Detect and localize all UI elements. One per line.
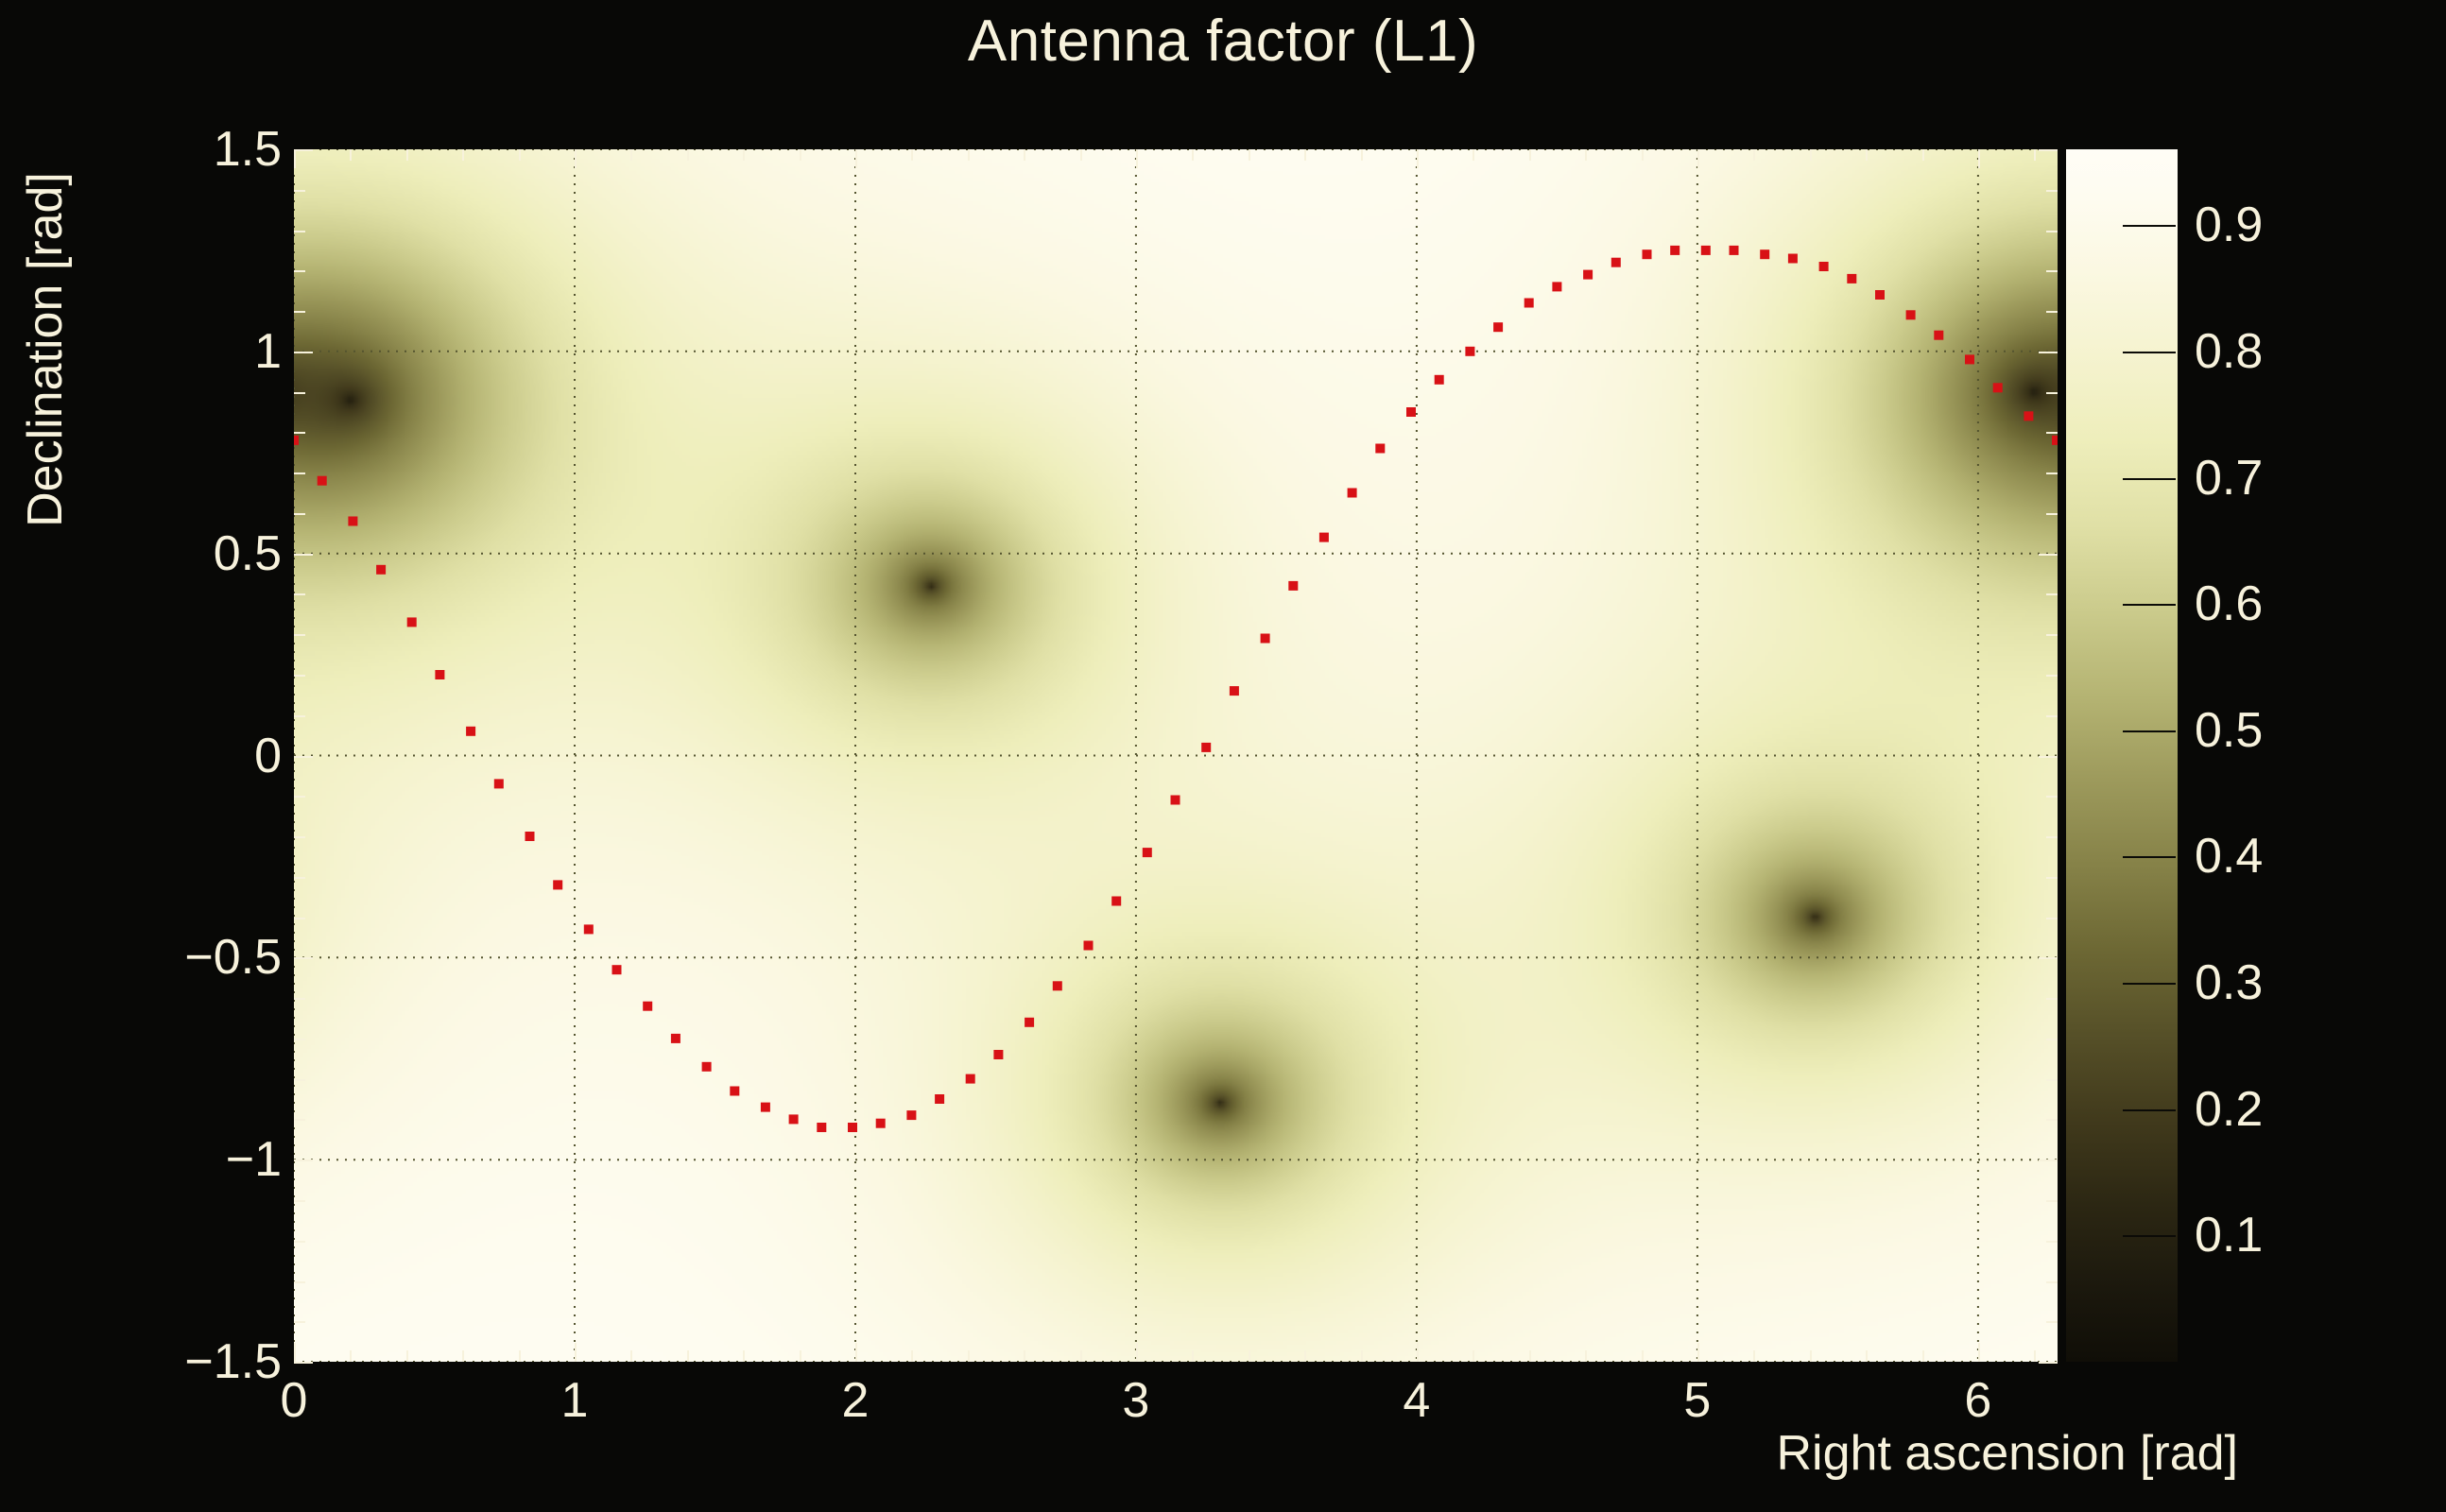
x-tick (1866, 1350, 1868, 1362)
y-tick (2046, 998, 2058, 1000)
y-tick (294, 149, 313, 151)
y-tick-label: −0.5 (184, 929, 282, 986)
y-tick (294, 593, 305, 595)
x-tick (519, 149, 521, 161)
x-tick (743, 1350, 745, 1362)
x-tick (1810, 149, 1812, 161)
y-tick (2046, 190, 2058, 192)
x-tick (575, 1343, 577, 1362)
x-tick (911, 149, 913, 161)
y-tick (2046, 634, 2058, 636)
y-tick (2046, 918, 2058, 919)
y-tick (294, 1119, 305, 1121)
x-tick (294, 1343, 296, 1362)
colorbar-tick (2123, 352, 2176, 353)
colorbar-tick (2123, 1235, 2176, 1237)
x-tick (1697, 149, 1699, 168)
x-tick-label: 3 (1122, 1372, 1149, 1429)
x-tick (1473, 1350, 1474, 1362)
y-axis-title: Declination [rad] (17, 66, 74, 633)
x-tick (350, 1350, 352, 1362)
colorbar-tick-label: 0.4 (2195, 828, 2263, 885)
x-tick (1304, 1350, 1306, 1362)
y-tick (294, 392, 305, 394)
x-tick-label: 5 (1683, 1372, 1711, 1429)
colorbar-tick (2123, 1109, 2176, 1111)
x-tick (1136, 149, 1138, 168)
colorbar-tick-label: 0.6 (2195, 576, 2263, 632)
y-tick (2046, 1079, 2058, 1081)
x-tick (1249, 1350, 1250, 1362)
x-tick (855, 149, 857, 168)
y-tick (294, 1362, 313, 1364)
galactic-plane-overlay (294, 149, 2058, 1362)
y-tick (2046, 472, 2058, 474)
x-tick (1978, 149, 1980, 168)
x-tick (1192, 149, 1194, 161)
y-tick (2039, 554, 2058, 556)
y-tick (2046, 1241, 2058, 1243)
y-tick (2039, 957, 2058, 959)
x-tick (2034, 1350, 2036, 1362)
x-tick (350, 149, 352, 161)
x-tick (1024, 149, 1025, 161)
y-tick (2046, 1119, 2058, 1121)
colorbar-tick-label: 0.7 (2195, 450, 2263, 507)
y-tick (294, 918, 305, 919)
colorbar-tick-label: 0.5 (2195, 702, 2263, 759)
y-tick (294, 1160, 313, 1161)
x-tick (968, 149, 970, 161)
y-tick (294, 311, 305, 313)
x-tick (1753, 1350, 1755, 1362)
colorbar-title: F 2 + + F 2 × (2268, 94, 2382, 501)
x-tick (1642, 1350, 1644, 1362)
y-tick (2046, 311, 2058, 313)
y-tick (2046, 1039, 2058, 1040)
x-tick (1417, 149, 1419, 168)
page-title: Antenna factor (L1) (0, 8, 2446, 75)
y-tick (294, 1241, 305, 1243)
y-tick (294, 957, 313, 959)
colorbar-tick-label: 0.3 (2195, 954, 2263, 1011)
y-tick (2046, 715, 2058, 717)
y-tick (294, 352, 313, 353)
x-tick (1417, 1343, 1419, 1362)
x-tick (911, 1350, 913, 1362)
x-tick (1304, 149, 1306, 161)
colorbar-tick (2123, 730, 2176, 732)
x-tick (406, 149, 408, 161)
y-tick (294, 1200, 305, 1202)
y-tick (294, 1321, 305, 1323)
x-tick (1249, 149, 1250, 161)
x-tick (575, 149, 577, 168)
x-tick (1978, 1343, 1980, 1362)
y-tick (2046, 392, 2058, 394)
y-tick (294, 715, 305, 717)
y-tick (294, 796, 305, 798)
y-tick (294, 1079, 305, 1081)
y-tick-label: 0 (254, 728, 282, 784)
y-tick (2039, 1362, 2058, 1364)
x-tick-label: 2 (842, 1372, 870, 1429)
x-axis-title: Right ascension [rad] (1777, 1425, 2239, 1482)
y-tick (2046, 432, 2058, 434)
y-tick (294, 270, 305, 272)
x-tick-label: 4 (1403, 1372, 1430, 1429)
x-tick (1529, 1350, 1531, 1362)
figure-canvas: Antenna factor (L1) 0123456 1.510.50−0.5… (0, 0, 2446, 1512)
x-tick (1080, 149, 1082, 161)
colorbar-tick (2123, 856, 2176, 858)
x-tick (1024, 1350, 1025, 1362)
x-tick (1080, 1350, 1082, 1362)
y-tick (2046, 1200, 2058, 1202)
y-tick (294, 836, 305, 838)
y-tick-label: 1 (254, 323, 282, 380)
x-tick (2034, 149, 2036, 161)
x-tick-label: 6 (1964, 1372, 1991, 1429)
y-tick (294, 675, 305, 677)
x-tick (1361, 1350, 1363, 1362)
colorbar-gradient (2066, 149, 2178, 1362)
y-tick (294, 432, 305, 434)
y-tick (2046, 877, 2058, 879)
heatmap-plot-area[interactable] (294, 149, 2058, 1362)
colorbar-tick (2123, 225, 2176, 227)
y-tick (294, 877, 305, 879)
x-tick (462, 149, 464, 161)
x-tick (800, 149, 801, 161)
x-tick (968, 1350, 970, 1362)
x-tick (1810, 1350, 1812, 1362)
y-tick (2046, 796, 2058, 798)
x-tick (1585, 1350, 1587, 1362)
y-tick (294, 1281, 305, 1283)
x-tick (1529, 149, 1531, 161)
x-tick (294, 149, 296, 168)
y-tick (2046, 1281, 2058, 1283)
y-tick-label: 0.5 (214, 525, 282, 582)
x-tick (1697, 1343, 1699, 1362)
x-tick (406, 1350, 408, 1362)
y-tick (294, 634, 305, 636)
x-tick (687, 1350, 689, 1362)
y-tick (2046, 513, 2058, 515)
y-tick (2046, 1321, 2058, 1323)
y-tick (294, 998, 305, 1000)
x-tick-label: 0 (281, 1372, 308, 1429)
x-tick (462, 1350, 464, 1362)
x-tick (1192, 1350, 1194, 1362)
y-tick (2039, 756, 2058, 758)
y-tick (2046, 675, 2058, 677)
x-tick (1922, 149, 1924, 161)
y-tick (294, 554, 313, 556)
y-tick (2046, 270, 2058, 272)
y-tick (2039, 1160, 2058, 1161)
y-tick (2046, 836, 2058, 838)
x-tick-label: 1 (561, 1372, 589, 1429)
y-tick-label: 1.5 (214, 121, 282, 178)
y-tick (294, 513, 305, 515)
x-tick (519, 1350, 521, 1362)
y-tick-label: −1 (226, 1131, 282, 1188)
colorbar-tick-label: 0.2 (2195, 1081, 2263, 1138)
colorbar-tick-label: 0.1 (2195, 1207, 2263, 1263)
x-tick (630, 149, 632, 161)
y-tick (2046, 593, 2058, 595)
colorbar-tick-label: 0.9 (2195, 197, 2263, 253)
colorbar-tick (2123, 478, 2176, 480)
x-tick (743, 149, 745, 161)
y-tick (294, 190, 305, 192)
x-tick (1642, 149, 1644, 161)
x-tick (1585, 149, 1587, 161)
y-tick (2039, 149, 2058, 151)
x-tick (1753, 149, 1755, 161)
x-tick (800, 1350, 801, 1362)
y-tick (2046, 231, 2058, 232)
x-tick (855, 1343, 857, 1362)
x-tick (1866, 149, 1868, 161)
y-tick (294, 1039, 305, 1040)
y-tick (2039, 352, 2058, 353)
y-tick-label: −1.5 (184, 1333, 282, 1390)
x-tick (630, 1350, 632, 1362)
x-tick (1361, 149, 1363, 161)
x-tick (1136, 1343, 1138, 1362)
x-tick (1922, 1350, 1924, 1362)
y-tick (294, 756, 313, 758)
y-tick (294, 472, 305, 474)
colorbar-tick (2123, 983, 2176, 985)
x-tick (687, 149, 689, 161)
colorbar-tick (2123, 604, 2176, 606)
colorbar-tick-label: 0.8 (2195, 323, 2263, 380)
x-tick (1473, 149, 1474, 161)
y-tick (294, 231, 305, 232)
